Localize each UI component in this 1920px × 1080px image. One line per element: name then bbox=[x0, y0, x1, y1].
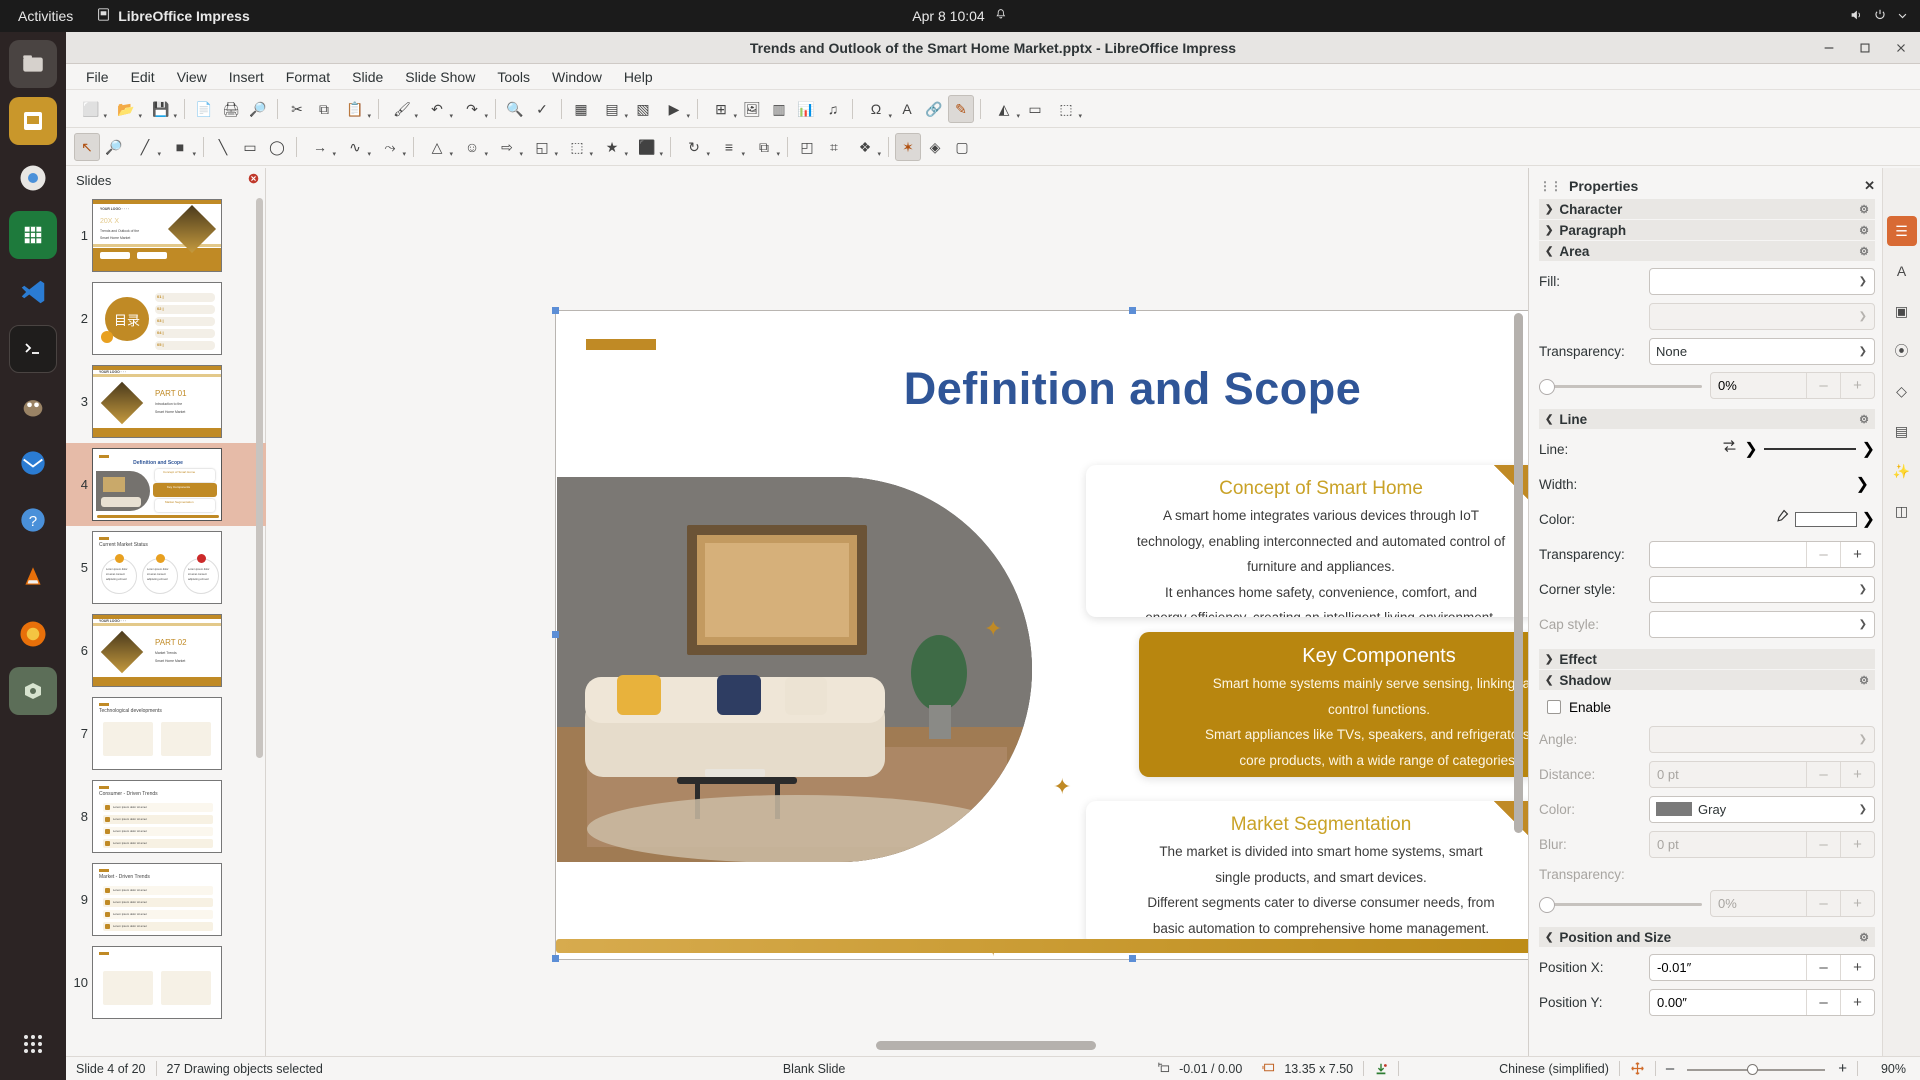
3d-objects-tool[interactable]: ⬛▾ bbox=[630, 133, 664, 161]
basic-shapes-tool[interactable]: △▾ bbox=[420, 133, 454, 161]
slides-panel-scrollbar[interactable] bbox=[256, 198, 263, 758]
insert-table-button[interactable]: ⊞▾ bbox=[704, 95, 738, 123]
zoom-out-button[interactable]: – bbox=[1666, 1060, 1674, 1077]
rectangle-tool[interactable]: ▭ bbox=[237, 133, 263, 161]
insert-line-icon: ╲ bbox=[219, 140, 227, 154]
shadow-distance-spinner[interactable]: 0 pt – + bbox=[1649, 761, 1875, 788]
insert-hyperlink-button[interactable]: 🔗 bbox=[921, 95, 947, 123]
insert-line-callout-button[interactable]: ▭ bbox=[1022, 95, 1048, 123]
dropdown-arrow-icon[interactable]: ▾ bbox=[484, 112, 488, 120]
area-transparency-spinner[interactable]: 0% – + bbox=[1710, 372, 1875, 399]
callout-tool[interactable]: ⬚▾ bbox=[560, 133, 594, 161]
display-grid-button[interactable]: ▦ bbox=[568, 95, 594, 123]
zoom-slider[interactable] bbox=[1681, 1059, 1831, 1079]
dropdown-arrow-icon[interactable]: ▾ bbox=[414, 112, 418, 120]
chevron-down-icon[interactable]: ❯ bbox=[1856, 474, 1869, 494]
fill-type-select[interactable]: ❯ bbox=[1649, 268, 1875, 295]
selection-handle-w[interactable] bbox=[552, 631, 559, 638]
sidebar-tab-styles[interactable]: A bbox=[1887, 256, 1917, 286]
dropdown-arrow-icon[interactable]: ▾ bbox=[659, 150, 663, 158]
section-position-and-size[interactable]: ❮ Position and Size ⚙ bbox=[1539, 927, 1875, 947]
menu-bar: File Edit View Insert Format Slide Slide… bbox=[66, 64, 1920, 90]
gear-icon[interactable]: ⚙ bbox=[1859, 413, 1869, 426]
export-pdf-button[interactable]: 📄 bbox=[191, 95, 217, 123]
slide-thumbnail-number: 2 bbox=[68, 311, 88, 326]
clock-area[interactable]: Apr 8 10:04 bbox=[912, 8, 1007, 24]
position-x-value[interactable]: -0.01″ bbox=[1650, 955, 1806, 980]
insert-special-char-button[interactable]: Ω▾ bbox=[859, 95, 893, 123]
chevron-down-icon[interactable]: ❯ bbox=[1862, 439, 1875, 459]
slide-thumbnail-7[interactable]: 7Technological developments bbox=[66, 692, 266, 775]
fill-style-select[interactable]: ❯ bbox=[1649, 303, 1875, 330]
line-color-swatch[interactable] bbox=[1795, 512, 1857, 527]
system-tray[interactable] bbox=[1849, 8, 1908, 25]
slides-list[interactable]: 1YOUR LOGO · · · ·20X XTrends and Outloo… bbox=[66, 194, 266, 1052]
active-app-indicator[interactable]: LibreOffice Impress bbox=[87, 8, 260, 24]
copy-button[interactable]: ⧉ bbox=[311, 95, 337, 123]
slide-thumbnail-number: 3 bbox=[68, 394, 88, 409]
symbol-shapes-icon: ☺ bbox=[465, 140, 479, 154]
menu-help[interactable]: Help bbox=[614, 66, 663, 88]
menu-slide-show[interactable]: Slide Show bbox=[395, 66, 485, 88]
align-objects-tool[interactable]: ≡▾ bbox=[712, 133, 746, 161]
dropdown-arrow-icon[interactable]: ▾ bbox=[888, 112, 892, 120]
insert-shape-button[interactable]: ◭▾ bbox=[987, 95, 1021, 123]
close-button[interactable] bbox=[1890, 37, 1912, 59]
insert-textbox-button[interactable]: ▥ bbox=[766, 95, 792, 123]
slide-thumbnail-1[interactable]: 1YOUR LOGO · · · ·20X XTrends and Outloo… bbox=[66, 194, 266, 277]
decrement-button[interactable]: – bbox=[1806, 955, 1840, 980]
section-line-label: Line bbox=[1559, 412, 1587, 427]
chevron-down-icon[interactable]: ❯ bbox=[1744, 439, 1757, 459]
close-icon[interactable]: ✕ bbox=[1864, 178, 1875, 194]
chevron-down-icon[interactable]: ❯ bbox=[1862, 509, 1875, 529]
arrow-icon: → bbox=[313, 140, 327, 154]
drag-grip-icon[interactable]: ⋮⋮ bbox=[1539, 179, 1561, 193]
menu-tools[interactable]: Tools bbox=[487, 66, 540, 88]
fill-color-icon: ■ bbox=[176, 140, 184, 154]
flowchart-icon: ◱ bbox=[535, 140, 548, 154]
standard-toolbar: ⬜▾📂▾💾▾📄🖨🔎✂⧉📋▾🖌▾↶▾↷▾🔍✓▦▤▾▧▶▾⊞▾🖼▥📊♫Ω▾A🔗✎◭▾… bbox=[66, 90, 1920, 128]
properties-sidebar: ⋮⋮ Properties ✕ ❯ Character ⚙ ❯ Paragrap… bbox=[1528, 168, 1920, 1056]
sidebar-tab-navigator[interactable]: ⦿ bbox=[1887, 336, 1917, 366]
display-views-button[interactable]: ▤▾ bbox=[595, 95, 629, 123]
open-button[interactable]: 📂▾ bbox=[109, 95, 143, 123]
slide-thumbnail-8[interactable]: 8Consumer - Driven TrendsLorem ipsum dol… bbox=[66, 775, 266, 858]
increment-button[interactable]: + bbox=[1840, 891, 1874, 916]
dropdown-arrow-icon[interactable]: ▾ bbox=[367, 150, 371, 158]
menu-window[interactable]: Window bbox=[542, 66, 612, 88]
slide-thumbnail-2[interactable]: 2目录01 |02 |03 |04 |05 | bbox=[66, 277, 266, 360]
sidebar-tab-gallery[interactable]: ▣ bbox=[1887, 296, 1917, 326]
slide-thumbnail-preview[interactable] bbox=[92, 946, 222, 1019]
insert-image-button[interactable]: 🖼 bbox=[739, 95, 765, 123]
cap-style-select[interactable]: ❯ bbox=[1649, 611, 1875, 638]
dropdown-arrow-icon[interactable]: ▾ bbox=[624, 150, 628, 158]
menu-slide[interactable]: Slide bbox=[342, 66, 393, 88]
language-label: Chinese (simplified) bbox=[1499, 1062, 1609, 1076]
position-y-spinner[interactable]: 0.00″ – + bbox=[1649, 989, 1875, 1016]
increment-button[interactable]: + bbox=[1840, 832, 1874, 857]
spelling-button[interactable]: ✓ bbox=[529, 95, 555, 123]
corner-style-select[interactable]: ❯ bbox=[1649, 576, 1875, 603]
symbol-shapes-tool[interactable]: ☺▾ bbox=[455, 133, 489, 161]
dock-item-impress[interactable] bbox=[9, 97, 57, 145]
menu-format[interactable]: Format bbox=[276, 66, 340, 88]
horizontal-scrollbar[interactable] bbox=[506, 1041, 1636, 1052]
toolbar-separator bbox=[184, 99, 185, 119]
slide-thumbnail-preview[interactable]: 目录01 |02 |03 |04 |05 | bbox=[92, 282, 222, 355]
toolbar-separator bbox=[413, 137, 414, 157]
redo-button[interactable]: ↷▾ bbox=[455, 95, 489, 123]
crop-tool[interactable]: ⌗ bbox=[821, 133, 847, 161]
arrow-tool[interactable]: →▾ bbox=[303, 133, 337, 161]
sparkle-icon-1: ✦ bbox=[984, 616, 1002, 642]
decrement-button[interactable]: – bbox=[1806, 990, 1840, 1015]
card-concept[interactable]: Concept of Smart Home A smart home integ… bbox=[1086, 465, 1556, 617]
shadow-tool[interactable]: ◰ bbox=[794, 133, 820, 161]
gear-icon[interactable]: ⚙ bbox=[1859, 203, 1869, 216]
insert-line-tool[interactable]: ╲ bbox=[210, 133, 236, 161]
area-transparency-select[interactable]: None ❯ bbox=[1649, 338, 1875, 365]
slide-thumbnail-9[interactable]: 9Market - Driven TrendsLorem ipsum dolor… bbox=[66, 858, 266, 941]
sidebar-tab-master-slides[interactable]: ▤ bbox=[1887, 416, 1917, 446]
shadow-blur-label: Blur: bbox=[1539, 837, 1643, 852]
points-tool[interactable]: ✶ bbox=[895, 133, 921, 161]
zoom-level[interactable]: 90% bbox=[1858, 1057, 1920, 1080]
fit-slide-icon[interactable] bbox=[1620, 1057, 1655, 1080]
shadow-color-select[interactable]: Gray ❯ bbox=[1649, 796, 1875, 823]
card-line-4: It enhances home safety, convenience, co… bbox=[1104, 583, 1538, 603]
decrement-button[interactable]: – bbox=[1806, 373, 1840, 398]
fill-color-tool[interactable]: ■▾ bbox=[163, 133, 197, 161]
master-slide-icon: ▧ bbox=[636, 102, 649, 116]
impress-window: Trends and Outlook of the Smart Home Mar… bbox=[66, 32, 1920, 1080]
rotate-tool[interactable]: ↻▾ bbox=[677, 133, 711, 161]
shadow-angle-select[interactable]: ❯ bbox=[1649, 726, 1875, 753]
dropdown-arrow-icon[interactable]: ▾ bbox=[138, 112, 142, 120]
section-line[interactable]: ❮ Line ⚙ bbox=[1539, 409, 1875, 429]
slides-panel-header: Slides bbox=[66, 168, 265, 192]
dropdown-arrow-icon[interactable]: ▾ bbox=[776, 150, 780, 158]
card-line-3: furniture and appliances. bbox=[1104, 557, 1538, 577]
chevron-down-icon: ❯ bbox=[1859, 311, 1867, 322]
insert-media-icon: ♫ bbox=[828, 102, 839, 116]
slides-panel: Slides 1YOUR LOGO · · · ·20X XTrends and… bbox=[66, 168, 266, 1056]
dropdown-arrow-icon[interactable]: ▾ bbox=[157, 150, 161, 158]
dock-item-vlc[interactable] bbox=[9, 553, 57, 601]
object-size-icon bbox=[1262, 1061, 1277, 1077]
start-slideshow-icon: ▶ bbox=[669, 102, 680, 116]
dropdown-arrow-icon[interactable]: ▾ bbox=[367, 112, 371, 120]
slide-thumbnail-number: 7 bbox=[68, 726, 88, 741]
card-heading: Market Segmentation bbox=[1086, 814, 1556, 836]
toolbar-separator bbox=[852, 99, 853, 119]
shadow-color-value: Gray bbox=[1698, 802, 1726, 817]
dropdown-arrow-icon[interactable]: ▾ bbox=[519, 150, 523, 158]
window-titlebar: Trends and Outlook of the Smart Home Mar… bbox=[66, 32, 1920, 64]
dropdown-arrow-icon[interactable]: ▾ bbox=[449, 150, 453, 158]
position-y-value[interactable]: 0.00″ bbox=[1650, 990, 1806, 1015]
slide-thumbnail-preview[interactable]: Technological developments bbox=[92, 697, 222, 770]
gear-icon[interactable]: ⚙ bbox=[1859, 245, 1869, 258]
toggle-extrusion-tool[interactable]: ▢ bbox=[949, 133, 975, 161]
volume-icon[interactable] bbox=[1849, 8, 1863, 25]
dropdown-arrow-icon[interactable]: ▾ bbox=[103, 112, 107, 120]
increment-button[interactable]: + bbox=[1840, 762, 1874, 787]
find-replace-icon: 🔍 bbox=[506, 102, 523, 116]
menu-edit[interactable]: Edit bbox=[121, 66, 165, 88]
maximize-button[interactable] bbox=[1854, 37, 1876, 59]
shadow-blur-spinner[interactable]: 0 pt – + bbox=[1649, 831, 1875, 858]
dropdown-arrow-icon[interactable]: ▾ bbox=[1078, 112, 1082, 120]
sidebar-tab-animation[interactable]: ✨ bbox=[1887, 456, 1917, 486]
insert-media-button[interactable]: ♫ bbox=[820, 95, 846, 123]
dock-item-files[interactable] bbox=[9, 40, 57, 88]
dropdown-arrow-icon[interactable]: ▾ bbox=[1016, 112, 1020, 120]
close-icon[interactable] bbox=[248, 173, 259, 187]
select-tool[interactable]: ↖ bbox=[74, 133, 100, 161]
line-width-label: Width: bbox=[1539, 477, 1643, 492]
toolbar-separator bbox=[495, 99, 496, 119]
card-line-1: A smart home integrates various devices … bbox=[1104, 506, 1538, 526]
print-preview-button[interactable]: 🔎 bbox=[245, 95, 271, 123]
slide-thumbnail-preview[interactable]: Market - Driven TrendsLorem ipsum dolor … bbox=[92, 863, 222, 936]
slide-thumbnail-4[interactable]: 4Definition and ScopeConcept of Smart Ho… bbox=[66, 443, 266, 526]
fill-label: Fill: bbox=[1539, 274, 1643, 289]
drawing-toolbar: ↖🔎╱▾■▾╲▭◯→▾∿▾⤳▾△▾☺▾⇨▾◱▾⬚▾★▾⬛▾↻▾≡▾⧉▾◰⌗❖▾✶… bbox=[66, 128, 1920, 166]
language-indicator[interactable]: Chinese (simplified) bbox=[1489, 1057, 1619, 1080]
svg-text:?: ? bbox=[29, 513, 37, 530]
section-area[interactable]: ❮ Area ⚙ bbox=[1539, 241, 1875, 261]
find-replace-button[interactable]: 🔍 bbox=[502, 95, 528, 123]
chevron-down-icon: ❯ bbox=[1859, 346, 1867, 357]
shadow-distance-label: Distance: bbox=[1539, 767, 1643, 782]
dock-item-chrome[interactable] bbox=[9, 154, 57, 202]
line-color-tool[interactable]: ╱▾ bbox=[128, 133, 162, 161]
zoom-tool[interactable]: 🔎 bbox=[101, 133, 127, 161]
row-shadow-color: Color: Gray ❯ bbox=[1539, 794, 1875, 824]
sidebar-tab-shapes[interactable]: ◇ bbox=[1887, 376, 1917, 406]
ellipse-tool[interactable]: ◯ bbox=[264, 133, 290, 161]
vertical-scrollbar[interactable] bbox=[1514, 308, 1525, 1008]
section-shadow[interactable]: ❮ Shadow ⚙ bbox=[1539, 670, 1875, 690]
curve-tool[interactable]: ∿▾ bbox=[338, 133, 372, 161]
slide-thumbnail-preview[interactable]: YOUR LOGO · · · ·20X XTrends and Outlook… bbox=[92, 199, 222, 272]
save-button[interactable]: 💾▾ bbox=[144, 95, 178, 123]
section-paragraph[interactable]: ❯ Paragraph ⚙ bbox=[1539, 220, 1875, 240]
print-preview-icon: 🔎 bbox=[249, 102, 266, 116]
insert-fontwork-icon: A bbox=[902, 102, 911, 116]
gear-icon[interactable]: ⚙ bbox=[1859, 224, 1869, 237]
dock-item-help[interactable]: ? bbox=[9, 496, 57, 544]
insert-shape-icon: ◭ bbox=[999, 102, 1010, 116]
new-slide-button[interactable]: ⬚▾ bbox=[1049, 95, 1083, 123]
minimize-button[interactable] bbox=[1818, 37, 1840, 59]
area-transparency-slider[interactable] bbox=[1539, 375, 1702, 397]
section-character-label: Character bbox=[1559, 202, 1622, 217]
arrow-style-icon[interactable] bbox=[1721, 438, 1738, 460]
unsaved-changes-icon[interactable] bbox=[1364, 1057, 1398, 1080]
dropdown-arrow-icon[interactable]: ▾ bbox=[192, 150, 196, 158]
increment-button[interactable]: + bbox=[1840, 990, 1874, 1015]
insert-chart-button[interactable]: 📊 bbox=[793, 95, 819, 123]
copy-icon: ⧉ bbox=[319, 102, 329, 116]
decrement-button[interactable]: – bbox=[1806, 832, 1840, 857]
decrement-button[interactable]: – bbox=[1806, 762, 1840, 787]
row-line-width: Width: ❯ bbox=[1539, 469, 1875, 499]
row-shadow-distance: Distance: 0 pt – + bbox=[1539, 759, 1875, 789]
gear-icon[interactable]: ⚙ bbox=[1859, 674, 1869, 687]
toolbar-separator bbox=[203, 137, 204, 157]
section-effect[interactable]: ❯ Effect bbox=[1539, 649, 1875, 669]
decrement-button[interactable]: – bbox=[1806, 542, 1840, 567]
slide-thumbnail-preview[interactable]: Consumer - Driven TrendsLorem ipsum dolo… bbox=[92, 780, 222, 853]
stars-tool[interactable]: ★▾ bbox=[595, 133, 629, 161]
eyedropper-icon[interactable] bbox=[1773, 508, 1790, 530]
slide-thumbnail-3[interactable]: 3YOUR LOGO · · ·PART 01Introduction to t… bbox=[66, 360, 266, 443]
zoom-controls[interactable]: – + bbox=[1656, 1057, 1857, 1080]
insert-fontwork-button[interactable]: A bbox=[894, 95, 920, 123]
start-slideshow-button[interactable]: ▶▾ bbox=[657, 95, 691, 123]
sidebar-tab-properties[interactable]: ☰ bbox=[1887, 216, 1917, 246]
show-applications-button[interactable] bbox=[9, 1020, 57, 1068]
chevron-right-icon: ❯ bbox=[1545, 225, 1553, 236]
shadow-enable-checkbox[interactable] bbox=[1547, 700, 1561, 714]
dock-item-firefox[interactable] bbox=[9, 610, 57, 658]
show-draw-functions-button[interactable]: ✎ bbox=[948, 95, 974, 123]
print-button[interactable]: 🖨 bbox=[218, 95, 244, 123]
dropdown-arrow-icon[interactable]: ▾ bbox=[589, 150, 593, 158]
area-transparency-value: None bbox=[1656, 344, 1687, 359]
power-icon[interactable] bbox=[1873, 8, 1887, 25]
shadow-transparency-spinner[interactable]: 0% – + bbox=[1710, 890, 1875, 917]
line-color-icon: ╱ bbox=[141, 140, 149, 154]
selection-handle-nw[interactable] bbox=[552, 307, 559, 314]
selection-info-label: 27 Drawing objects selected bbox=[167, 1062, 323, 1076]
dropdown-arrow-icon[interactable]: ▾ bbox=[449, 112, 453, 120]
slides-panel-title: Slides bbox=[76, 173, 111, 188]
dropdown-arrow-icon[interactable]: ▾ bbox=[733, 112, 737, 120]
clone-formatting-button[interactable]: 🖌▾ bbox=[385, 95, 419, 123]
toolbar-separator bbox=[670, 137, 671, 157]
filter-tool[interactable]: ❖▾ bbox=[848, 133, 882, 161]
display-views-icon: ▤ bbox=[605, 102, 618, 116]
slide-thumbnail-number: 4 bbox=[68, 477, 88, 492]
block-arrows-tool[interactable]: ⇨▾ bbox=[490, 133, 524, 161]
basic-shapes-icon: △ bbox=[432, 140, 443, 154]
shadow-transparency-slider[interactable] bbox=[1539, 893, 1702, 915]
dropdown-arrow-icon[interactable]: ▾ bbox=[686, 112, 690, 120]
sidebar-tab-slide-transition[interactable]: ◫ bbox=[1887, 496, 1917, 526]
card-market-segmentation[interactable]: Market Segmentation The market is divide… bbox=[1086, 801, 1556, 946]
slide-thumbnail-preview[interactable]: YOUR LOGO · · ·PART 01Introduction to th… bbox=[92, 365, 222, 438]
slide-thumbnail-preview[interactable]: Definition and ScopeConcept of Smart Hom… bbox=[92, 448, 222, 521]
shadow-enable-label: Enable bbox=[1569, 700, 1611, 715]
dock-item-calc[interactable] bbox=[9, 211, 57, 259]
slide-thumbnail-preview[interactable]: Current Market StatusLorem ipsum dolorsi… bbox=[92, 531, 222, 604]
increment-button[interactable]: + bbox=[1840, 373, 1874, 398]
glue-points-tool[interactable]: ◈ bbox=[922, 133, 948, 161]
menu-file[interactable]: File bbox=[76, 66, 119, 88]
selection-handle-n[interactable] bbox=[1129, 307, 1136, 314]
selection-handle-s[interactable] bbox=[1129, 955, 1136, 962]
dropdown-arrow-icon[interactable]: ▾ bbox=[484, 150, 488, 158]
dropdown-arrow-icon[interactable]: ▾ bbox=[332, 150, 336, 158]
horizontal-scroll-thumb[interactable] bbox=[876, 1041, 1096, 1050]
line-transparency-spinner[interactable]: – + bbox=[1649, 541, 1875, 568]
dropdown-arrow-icon[interactable]: ▾ bbox=[173, 112, 177, 120]
slide-thumbnail-preview[interactable]: YOUR LOGO · · ·PART 02Market TrendsSmart… bbox=[92, 614, 222, 687]
slide-thumbnail-6[interactable]: 6YOUR LOGO · · ·PART 02Market TrendsSmar… bbox=[66, 609, 266, 692]
line-label: Line: bbox=[1539, 442, 1643, 457]
position-x-spinner[interactable]: -0.01″ – + bbox=[1649, 954, 1875, 981]
selection-info: 27 Drawing objects selected bbox=[157, 1057, 333, 1080]
chevron-down-icon[interactable] bbox=[1897, 8, 1908, 24]
arrange-tool[interactable]: ⧉▾ bbox=[747, 133, 781, 161]
dropdown-arrow-icon[interactable]: ▾ bbox=[402, 150, 406, 158]
zoom-in-button[interactable]: + bbox=[1838, 1060, 1847, 1077]
dropdown-arrow-icon[interactable]: ▾ bbox=[624, 112, 628, 120]
cut-button[interactable]: ✂ bbox=[284, 95, 310, 123]
insert-textbox-icon: ▥ bbox=[772, 102, 785, 116]
master-slide-button[interactable]: ▧ bbox=[630, 95, 656, 123]
section-character[interactable]: ❯ Character ⚙ bbox=[1539, 199, 1875, 219]
window-controls bbox=[1818, 37, 1912, 59]
slide-counter: Slide 4 of 20 bbox=[66, 1057, 156, 1080]
dock-item-thunderbird[interactable] bbox=[9, 439, 57, 487]
slide-thumbnail-10[interactable]: 10 bbox=[66, 941, 266, 1024]
increment-button[interactable]: + bbox=[1840, 955, 1874, 980]
shadow-enable-row[interactable]: Enable bbox=[1547, 695, 1875, 719]
dock-item-software[interactable] bbox=[9, 667, 57, 715]
slide-thumbnail-number: 6 bbox=[68, 643, 88, 658]
slide-layout-info[interactable]: Blank Slide bbox=[773, 1057, 856, 1080]
paste-button[interactable]: 📋▾ bbox=[338, 95, 372, 123]
decrement-button[interactable]: – bbox=[1806, 891, 1840, 916]
dock-item-terminal[interactable] bbox=[9, 325, 57, 373]
active-app-label: LibreOffice Impress bbox=[118, 8, 250, 24]
slide-thumbnail-number: 5 bbox=[68, 560, 88, 575]
menu-view[interactable]: View bbox=[167, 66, 217, 88]
room-photo[interactable] bbox=[557, 477, 1032, 862]
new-button[interactable]: ⬜▾ bbox=[74, 95, 108, 123]
line-transparency-label: Transparency: bbox=[1539, 547, 1643, 562]
dropdown-arrow-icon[interactable]: ▾ bbox=[706, 150, 710, 158]
toolbar-separator bbox=[296, 137, 297, 157]
slide-thumbnail-5[interactable]: 5Current Market StatusLorem ipsum dolors… bbox=[66, 526, 266, 609]
insert-chart-icon: 📊 bbox=[797, 102, 814, 116]
dock-item-gimp[interactable] bbox=[9, 382, 57, 430]
undo-button[interactable]: ↶▾ bbox=[420, 95, 454, 123]
dock-item-vscode[interactable] bbox=[9, 268, 57, 316]
vertical-scroll-thumb[interactable] bbox=[1514, 313, 1523, 833]
activities-button[interactable]: Activities bbox=[0, 0, 87, 32]
increment-button[interactable]: + bbox=[1840, 542, 1874, 567]
connector-tool[interactable]: ⤳▾ bbox=[373, 133, 407, 161]
card-line-2: single products, and smart devices. bbox=[1104, 868, 1538, 888]
dropdown-arrow-icon[interactable]: ▾ bbox=[877, 150, 881, 158]
selection-handle-sw[interactable] bbox=[552, 955, 559, 962]
flowchart-tool[interactable]: ◱▾ bbox=[525, 133, 559, 161]
menu-insert[interactable]: Insert bbox=[219, 66, 274, 88]
dropdown-arrow-icon[interactable]: ▾ bbox=[741, 150, 745, 158]
spelling-icon: ✓ bbox=[536, 102, 548, 116]
dropdown-arrow-icon[interactable]: ▾ bbox=[554, 150, 558, 158]
sidebar-deck-title: Properties bbox=[1569, 178, 1638, 194]
gear-icon[interactable]: ⚙ bbox=[1859, 931, 1869, 944]
cap-style-label: Cap style: bbox=[1539, 617, 1643, 632]
